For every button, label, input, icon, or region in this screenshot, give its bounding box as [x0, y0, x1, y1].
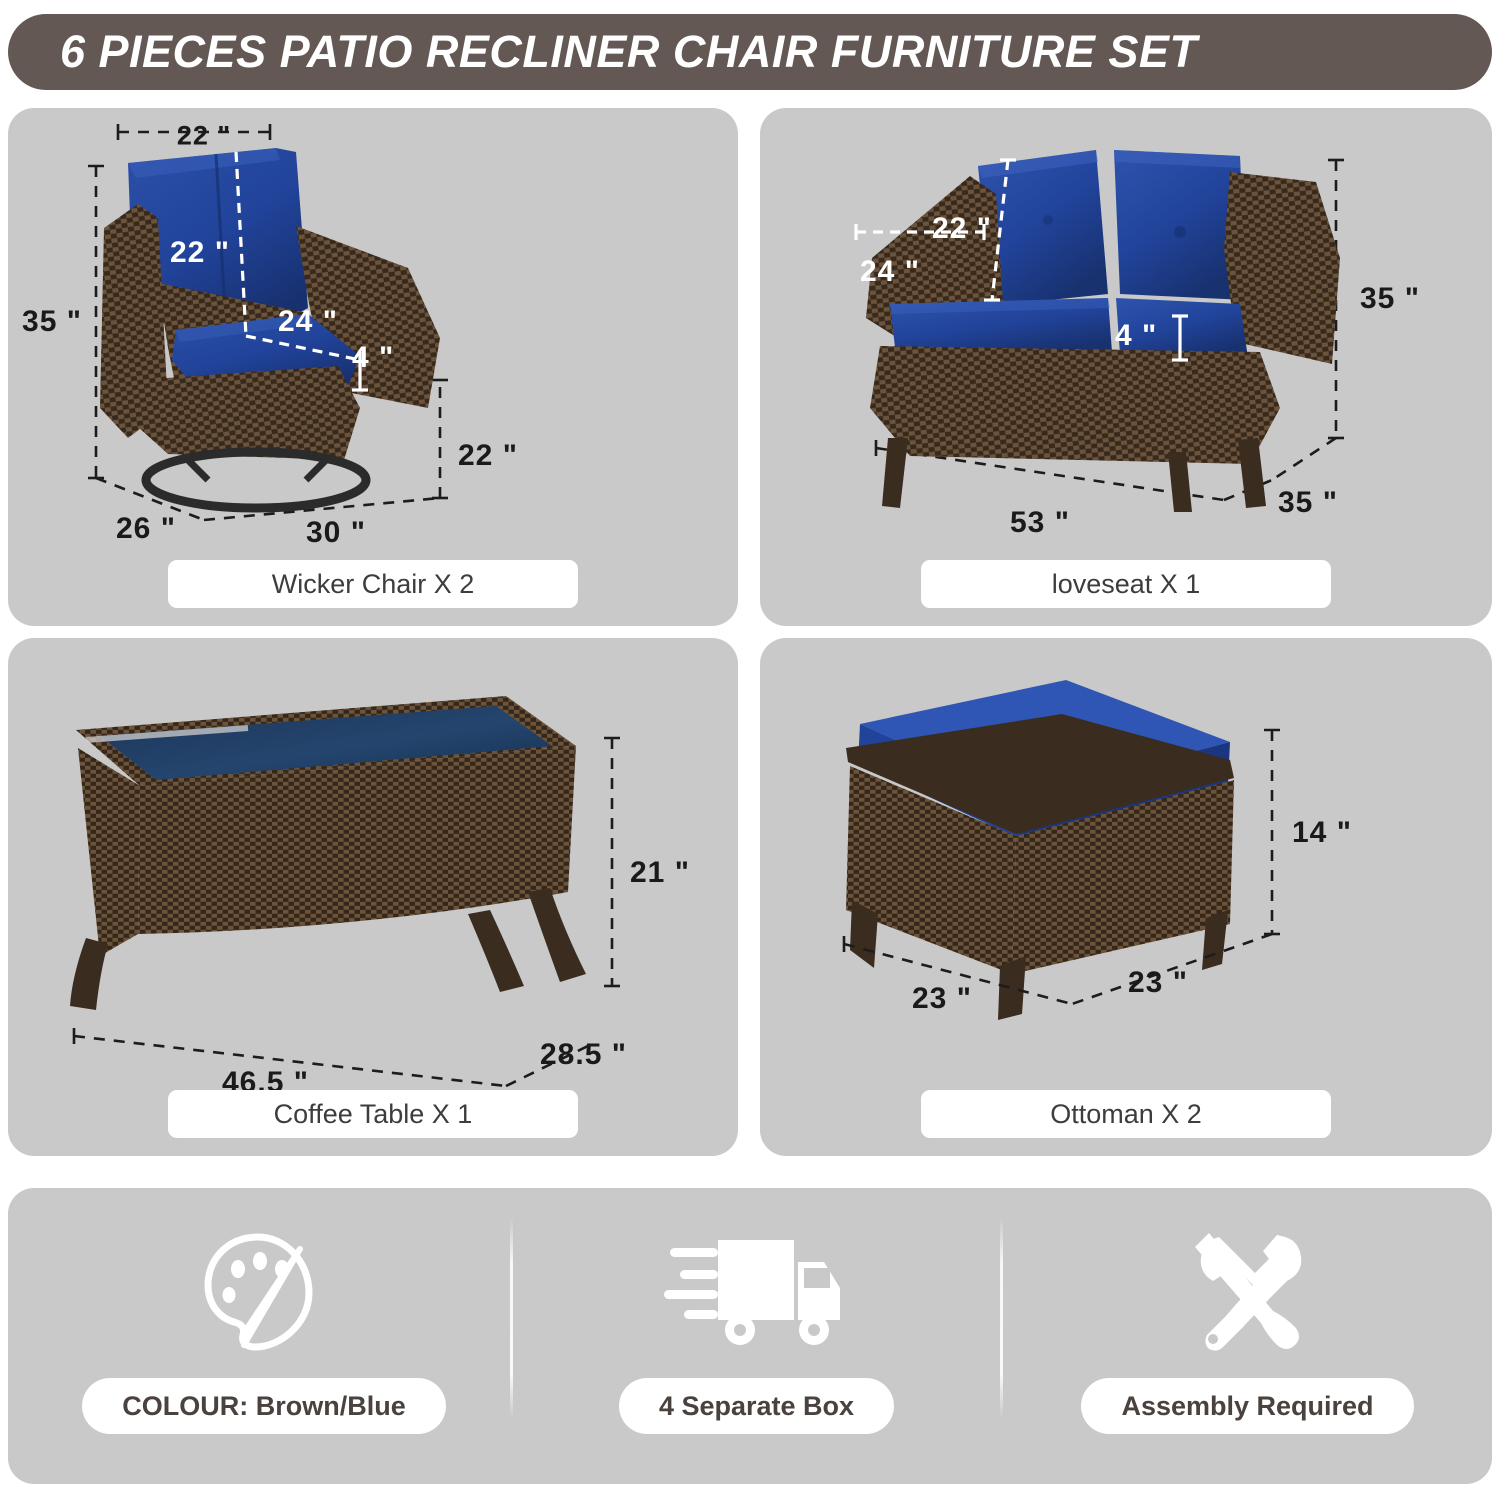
delivery-truck-icon	[662, 1222, 852, 1362]
dim-wicker-chair-width: 30 "	[306, 516, 366, 550]
dim-loveseat-depth: 35 "	[1278, 486, 1338, 520]
dim-loveseat-overall-height: 35 "	[1360, 282, 1420, 316]
ottoman-illustration	[760, 638, 1492, 1076]
dim-loveseat-width: 53 "	[1010, 506, 1070, 540]
dim-wicker-chair-seat-back-width: 22 "	[177, 121, 231, 152]
label-coffee-table: Coffee Table X 1	[168, 1090, 578, 1138]
header-banner: 6 PIECES PATIO RECLINER CHAIR FURNITURE …	[8, 14, 1492, 90]
feature-bar: COLOUR: Brown/Blue 4 Separate Box	[8, 1188, 1492, 1484]
dim-wicker-chair-back-cushion-height: 22 "	[170, 236, 230, 270]
dim-wicker-chair-overall-height: 35 "	[22, 305, 82, 339]
dim-ottoman-height: 14 "	[1292, 816, 1352, 850]
loveseat-stage: 22 " 24 " 4 " 35 " 53 " 35 "	[760, 108, 1492, 546]
dim-coffee-table-height: 21 "	[630, 856, 690, 890]
dim-wicker-chair-seat-depth: 24 "	[278, 305, 338, 339]
dim-coffee-table-depth: 28.5 "	[540, 1038, 627, 1072]
dim-ottoman-depth: 23 "	[1128, 966, 1188, 1000]
wicker-chair-illustration	[8, 108, 738, 546]
page-title: 6 PIECES PATIO RECLINER CHAIR FURNITURE …	[8, 26, 1197, 78]
product-panel-coffee-table: 21 " 46.5 " 28.5 " Coffee Table X 1	[8, 638, 738, 1156]
dim-loveseat-cushion-thickness: 4 "	[1115, 319, 1157, 353]
product-panel-ottoman: 14 " 23 " 23 " Ottoman X 2	[760, 638, 1492, 1156]
label-loveseat: loveseat X 1	[921, 560, 1331, 608]
feature-label-colour: COLOUR: Brown/Blue	[82, 1378, 446, 1434]
feature-packaging: 4 Separate Box	[513, 1188, 1000, 1484]
coffee-table-stage: 21 " 46.5 " 28.5 "	[8, 638, 738, 1076]
dim-ottoman-width: 23 "	[912, 982, 972, 1016]
coffee-table-illustration	[8, 638, 738, 1076]
product-panel-loveseat: 22 " 24 " 4 " 35 " 53 " 35 " loveseat X …	[760, 108, 1492, 626]
label-wicker-chair: Wicker Chair X 2	[168, 560, 578, 608]
dim-wicker-chair-seat-height: 22 "	[458, 439, 518, 473]
dim-wicker-chair-cushion-thickness: 4 "	[352, 341, 394, 375]
feature-label-assembly: Assembly Required	[1081, 1378, 1413, 1434]
feature-assembly: Assembly Required	[1003, 1188, 1492, 1484]
paint-palette-icon	[196, 1222, 332, 1362]
label-ottoman: Ottoman X 2	[921, 1090, 1331, 1138]
screwdriver-wrench-icon	[1183, 1222, 1313, 1362]
feature-colour: COLOUR: Brown/Blue	[18, 1188, 510, 1484]
feature-label-packaging: 4 Separate Box	[619, 1378, 894, 1434]
dim-loveseat-back-cushion-height: 22 "	[932, 212, 992, 246]
ottoman-stage: 14 " 23 " 23 "	[760, 638, 1492, 1076]
wicker-chair-stage: 22 " 35 " 22 " 24 " 4 " 22 " 26 " 30 "	[8, 108, 738, 546]
dim-wicker-chair-depth: 26 "	[116, 512, 176, 546]
dim-loveseat-seat-depth: 24 "	[860, 255, 920, 289]
product-panel-wicker-chair: 22 " 35 " 22 " 24 " 4 " 22 " 26 " 30 " W…	[8, 108, 738, 626]
